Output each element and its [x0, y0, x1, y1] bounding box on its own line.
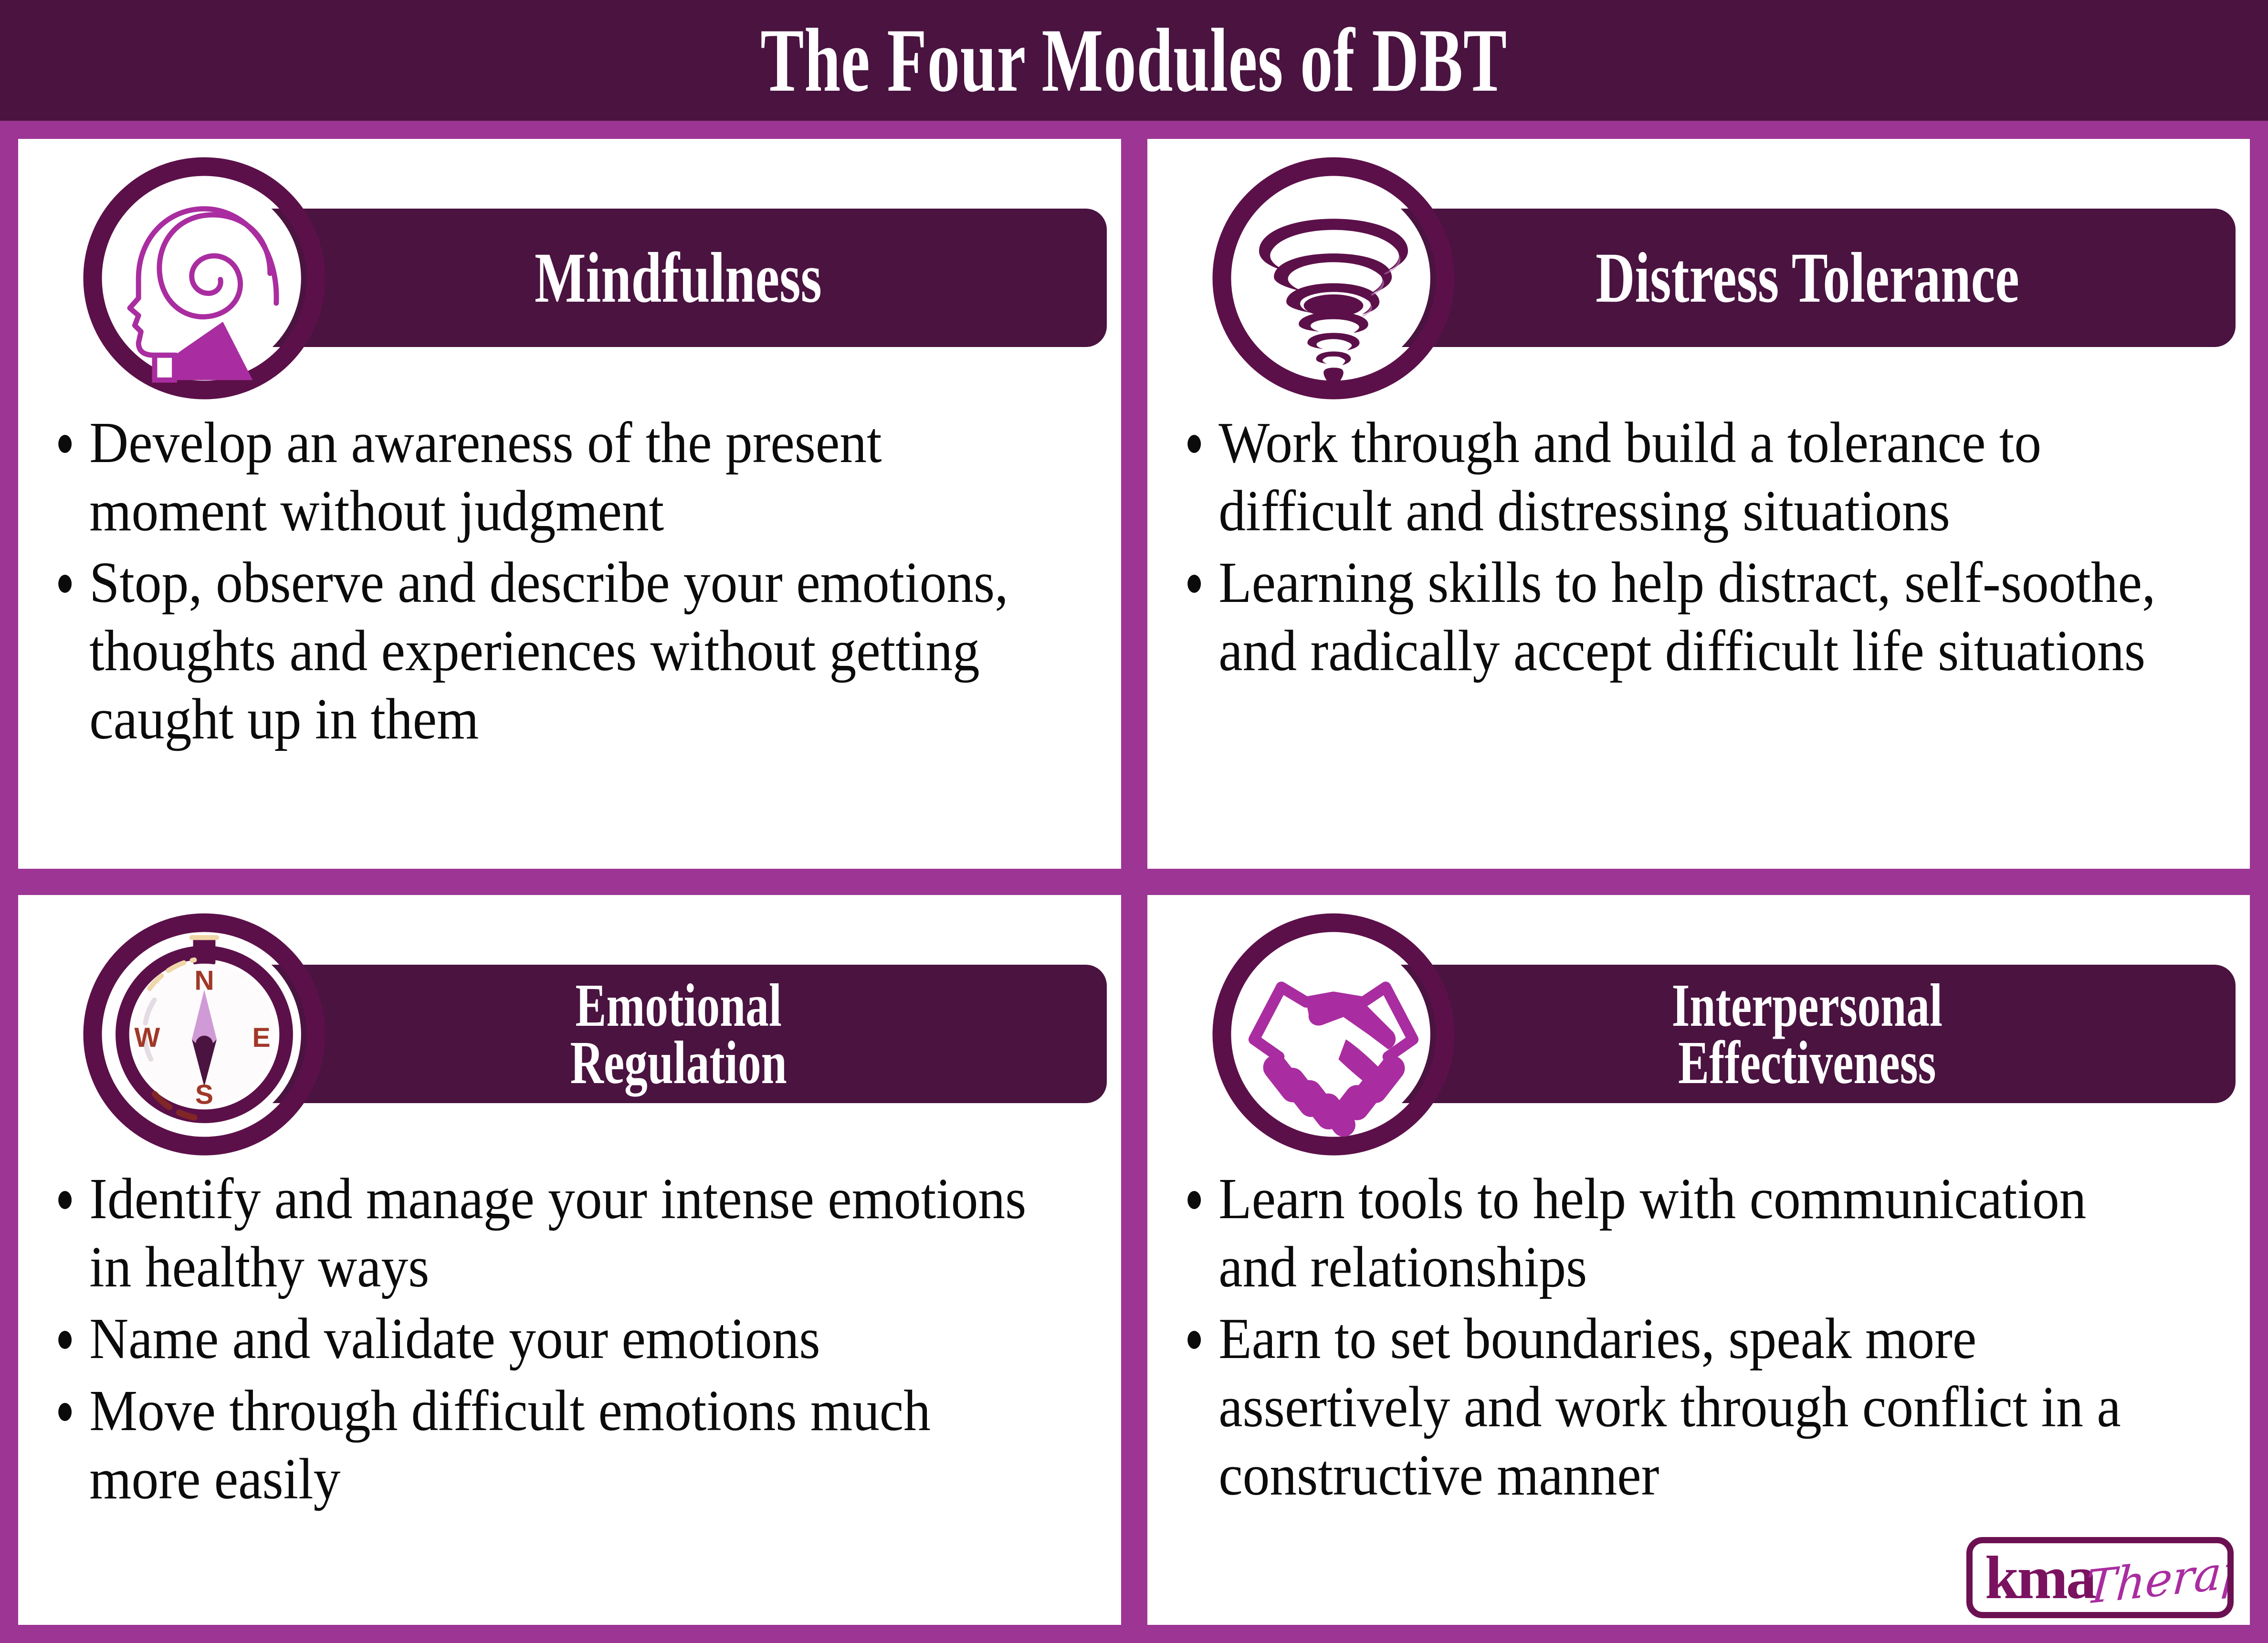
list-item: Work through and build a tolerance to di… — [1176, 409, 2157, 545]
list-item: Develop an awareness of the present mome… — [47, 409, 1028, 545]
list-item: Move through difficult emotions much mor… — [47, 1377, 1028, 1513]
module-bullet-list: Work through and build a tolerance to di… — [1147, 406, 2250, 869]
module-title-label: Distress Tolerance — [1596, 244, 2019, 312]
module-bullet-list: Identify and manage your intense emotion… — [18, 1162, 1121, 1625]
card-header-emotional-regulation: Emotional Regulation — [18, 895, 1121, 1162]
compass-label-west: W — [134, 1022, 160, 1053]
card-header-interpersonal-effectiveness: Interpersonal Effectiveness — [1147, 895, 2250, 1162]
list-item: Earn to set boundaries, speak more asser… — [1176, 1305, 2157, 1509]
list-item: Name and validate your emotions — [47, 1305, 1028, 1373]
module-title-label: Emotional Regulation — [570, 977, 787, 1092]
list-item: Learning skills to help distract, self-s… — [1176, 549, 2157, 685]
card-header-mindfulness: Mindfulness — [18, 139, 1121, 406]
compass-label-north: N — [194, 965, 214, 996]
modules-grid: Mindfulness Develop a — [0, 121, 2268, 1643]
compass-icon: N E S W — [80, 910, 328, 1159]
card-header-distress-tolerance: Distress Tolerance — [1147, 139, 2250, 406]
poster-header: The Four Modules of DBT — [0, 0, 2268, 121]
page-title: The Four Modules of DBT — [761, 9, 1508, 113]
module-bullet-list: Develop an awareness of the present mome… — [18, 406, 1121, 869]
head-spiral-icon — [80, 154, 328, 402]
poster-root: The Four Modules of DBT Mindfulness — [0, 0, 2268, 1643]
tornado-icon — [1209, 154, 1458, 402]
list-item: Identify and manage your intense emotion… — [47, 1165, 1028, 1301]
module-card-mindfulness[interactable]: Mindfulness Develop a — [18, 139, 1121, 869]
module-title-label: Interpersonal Effectiveness — [1672, 977, 1942, 1092]
logo-primary-text: kma — [1985, 1547, 2095, 1608]
compass-label-east: E — [252, 1022, 271, 1053]
compass-label-south: S — [195, 1080, 213, 1110]
handshake-icon — [1209, 910, 1458, 1159]
module-card-interpersonal-effectiveness[interactable]: Interpersonal Effectiveness — [1147, 895, 2250, 1625]
module-card-emotional-regulation[interactable]: Emotional Regulation — [18, 895, 1121, 1625]
kma-therapy-logo[interactable]: kma Therapy — [1966, 1537, 2234, 1618]
module-title-label: Mindfulness — [535, 244, 822, 312]
module-card-distress-tolerance[interactable]: Distress Tolerance — [1147, 139, 2250, 869]
logo-secondary-text: Therapy — [2084, 1544, 2234, 1611]
list-item: Learn tools to help with communication a… — [1176, 1165, 2157, 1301]
list-item: Stop, observe and describe your emotions… — [47, 549, 1028, 753]
